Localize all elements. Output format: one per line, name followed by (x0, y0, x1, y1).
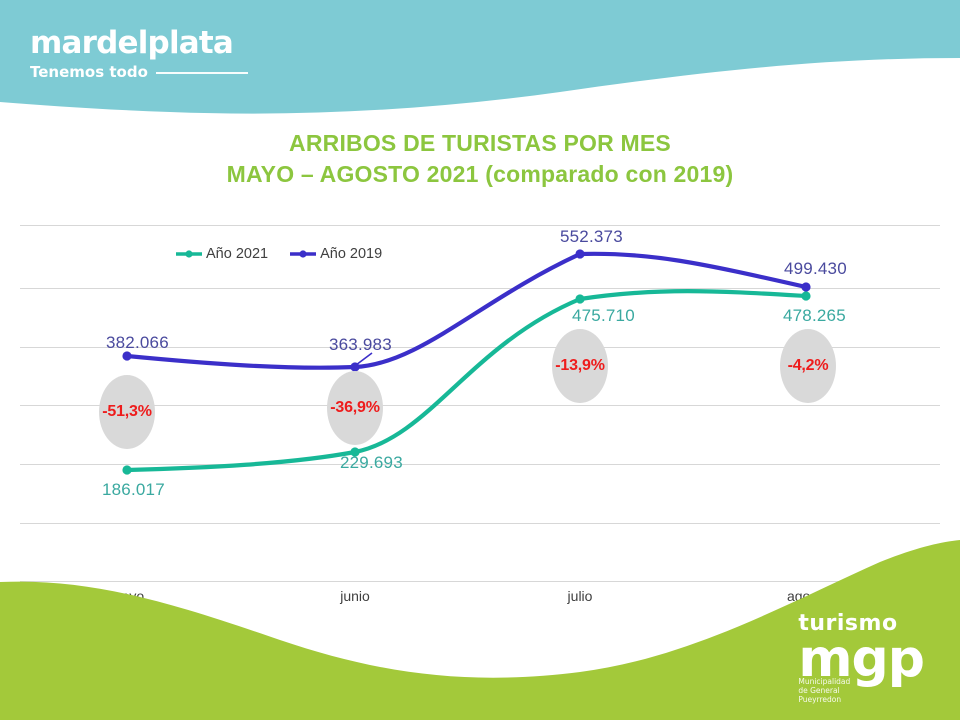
line-chart: Año 2021 Año 2019 382.066 363.983 552.37… (0, 205, 960, 595)
data-label-2019-junio: 363.983 (329, 335, 392, 355)
mardelplata-logo: mardelplata Tenemos todo (30, 28, 248, 80)
page-title: ARRIBOS DE TURISTAS POR MES MAYO – AGOST… (0, 128, 960, 190)
page-title-line1: ARRIBOS DE TURISTAS POR MES (289, 130, 671, 156)
logo-subtitle-line3: Pueyrredon (798, 695, 924, 704)
legend-swatch-icon (176, 248, 202, 260)
legend-label: Año 2019 (320, 246, 382, 262)
logo-subtitle-line1: Municipalidad (798, 677, 924, 686)
badge-text: -51,3% (102, 403, 152, 421)
data-label-2021-mayo: 186.017 (102, 480, 165, 500)
change-badge-julio: -13,9% (552, 329, 608, 403)
data-label-2019-julio: 552.373 (560, 227, 623, 247)
logo-subtitle: Municipalidad de General Pueyrredon (798, 677, 924, 704)
badge-text: -36,9% (330, 399, 380, 417)
data-label-2021-junio: 229.693 (340, 453, 403, 473)
turismo-mgp-logo: turismo mgp Municipalidad de General Pue… (798, 613, 924, 704)
change-badge-mayo: -51,3% (99, 375, 155, 449)
data-label-2021-agosto: 478.265 (783, 306, 846, 326)
legend-item-ano-2021[interactable]: Año 2021 (176, 246, 268, 262)
change-badge-agosto: -4,2% (780, 329, 836, 403)
change-badge-junio: -36,9% (327, 371, 383, 445)
legend-item-ano-2019[interactable]: Año 2019 (290, 246, 382, 262)
chart-legend: Año 2021 Año 2019 (176, 246, 382, 262)
series-line-ano-2019 (127, 254, 806, 368)
legend-swatch-icon (290, 248, 316, 260)
data-label-2021-julio: 475.710 (572, 306, 635, 326)
badge-text: -13,9% (555, 357, 605, 375)
brand-tagline: Tenemos todo (30, 65, 148, 80)
slide-canvas: mardelplata Tenemos todo ARRIBOS DE TURI… (0, 0, 960, 720)
data-label-2019-agosto: 499.430 (784, 259, 847, 279)
badge-text: -4,2% (788, 357, 829, 375)
brand-tagline-row: Tenemos todo (30, 65, 248, 80)
brand-underline (156, 72, 248, 74)
data-label-2019-mayo: 382.066 (106, 333, 169, 353)
footer-banner: turismo mgp Municipalidad de General Pue… (0, 540, 960, 720)
logo-subtitle-line2: de General (798, 686, 924, 695)
header-banner: mardelplata Tenemos todo (0, 0, 960, 130)
legend-label: Año 2021 (206, 246, 268, 262)
brand-name: mardelplata (30, 28, 248, 59)
page-title-line2: MAYO – AGOSTO 2021 (comparado con 2019) (0, 159, 960, 190)
